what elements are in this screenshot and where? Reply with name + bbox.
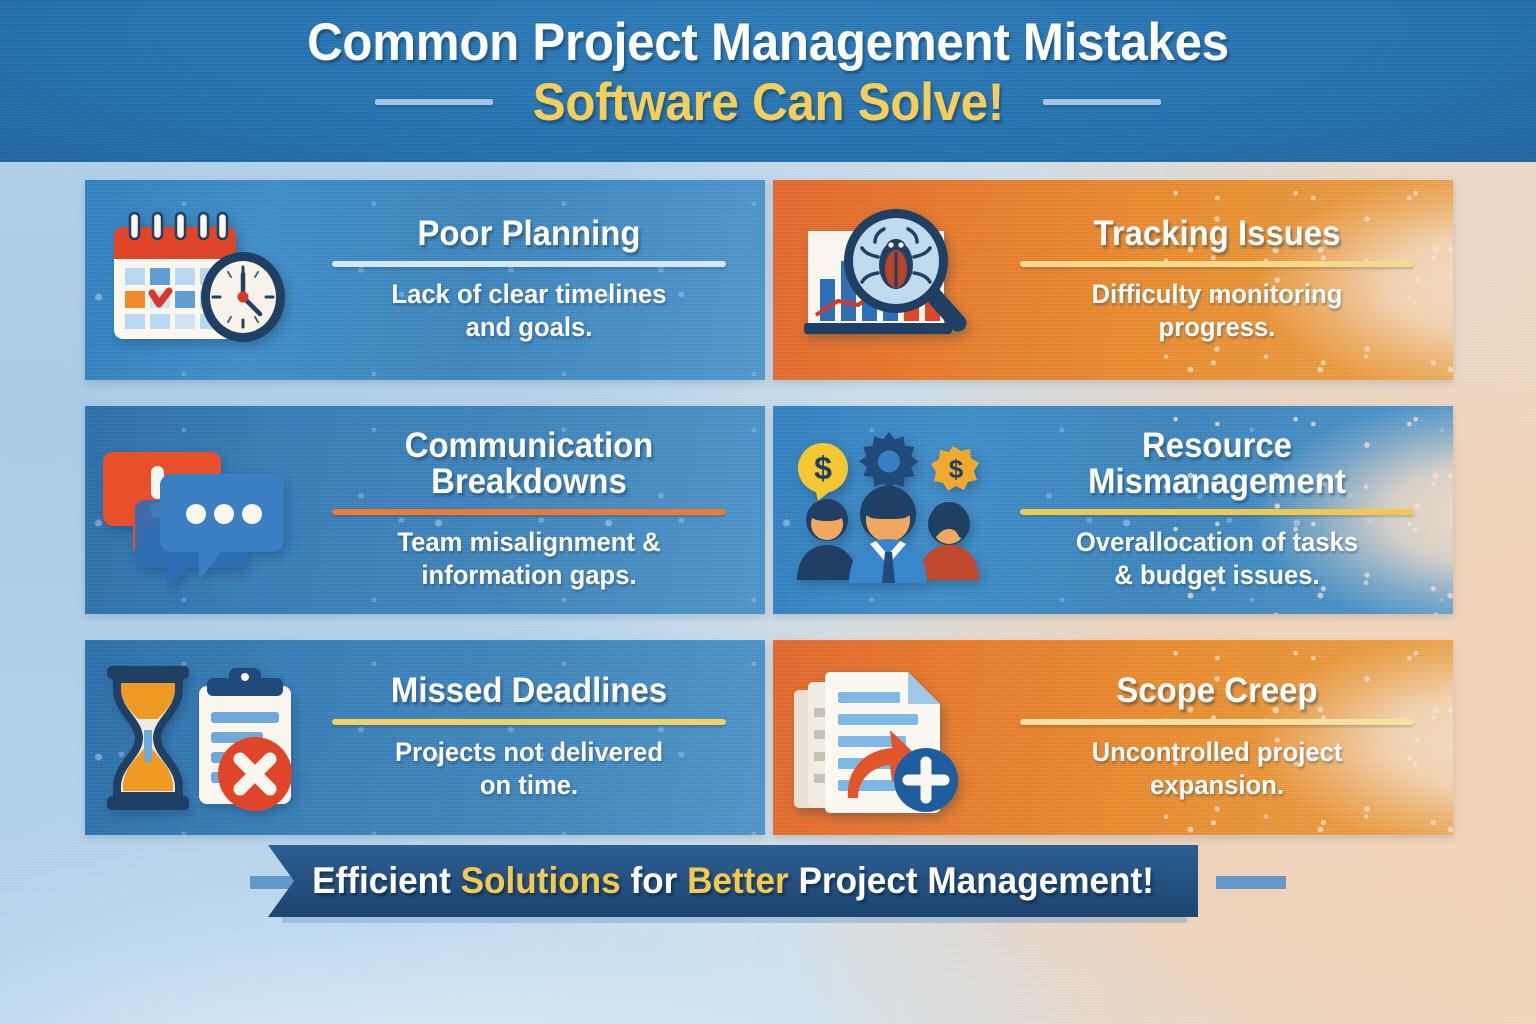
footer-tagline: Efficient Solutions for Better Project M… [312,860,1154,902]
card-rule [1020,509,1414,515]
footer-part-3: for [621,860,687,901]
card-description: Lack of clear timelines and goals. [326,278,733,344]
footer-part-5: Project Management! [789,860,1154,901]
card-description: Uncontrolled project expansion. [1014,736,1421,802]
card-title: Poor Planning [328,216,730,252]
footer-ribbon-zone: Efficient Solutions for Better Project M… [0,840,1536,926]
footer-ribbon: Efficient Solutions for Better Project M… [268,845,1198,917]
calendar-clock-icon [85,180,315,380]
subtitle-row: Software Can Solve! [0,75,1536,131]
card-title: Resource Mismanagement [1016,428,1418,501]
card-text-block: Scope Creep Uncontrolled project expansi… [1003,673,1453,801]
footer-part-2: Solutions [461,860,621,901]
chart-magnifier-bug-icon [773,180,1003,380]
card-rule [332,719,726,725]
card-title: Communication Breakdowns [328,428,730,501]
speech-bubbles-icon [85,406,315,614]
divider-dash-left [375,99,493,105]
svg-text:$: $ [814,450,832,486]
card-rule [332,509,726,515]
ribbon-tail-right [1216,876,1286,889]
svg-text:$: $ [948,454,963,484]
card-text-block: Resource Mismanagement Overallocation of… [1003,428,1453,593]
header-band: Common Project Management Mistakes Softw… [0,0,1536,162]
hourglass-clipboard-x-icon [85,640,315,835]
card-resource-mismanagement[interactable]: $ $ [773,406,1453,614]
card-description: Team misalignment & information gaps. [326,526,733,592]
card-text-block: Poor Planning Lack of clear timelines an… [315,216,765,344]
card-tracking-issues[interactable]: Tracking Issues Difficulty monitoring pr… [773,180,1453,380]
divider-dash-right [1043,99,1161,105]
mistakes-grid: Poor Planning Lack of clear timelines an… [85,180,1453,830]
card-title: Missed Deadlines [328,673,730,709]
card-rule [332,261,726,267]
team-gear-money-icon: $ $ [773,406,1003,614]
card-rule [1020,719,1414,725]
card-title: Scope Creep [1016,673,1418,709]
footer-part-1: Efficient [312,860,460,901]
card-text-block: Communication Breakdowns Team misalignme… [315,428,765,593]
card-rule [1020,261,1414,267]
page-title: Common Project Management Mistakes [54,16,1482,71]
card-poor-planning[interactable]: Poor Planning Lack of clear timelines an… [85,180,765,380]
card-description: Difficulty monitoring progress. [1014,278,1421,344]
card-missed-deadlines[interactable]: Missed Deadlines Projects not delivered … [85,640,765,835]
card-communication-breakdowns[interactable]: Communication Breakdowns Team misalignme… [85,406,765,614]
card-text-block: Missed Deadlines Projects not delivered … [315,673,765,801]
footer-part-4: Better [687,860,789,901]
card-text-block: Tracking Issues Difficulty monitoring pr… [1003,216,1453,344]
document-arrow-plus-icon [773,640,1003,835]
card-title: Tracking Issues [1016,216,1418,252]
card-scope-creep[interactable]: Scope Creep Uncontrolled project expansi… [773,640,1453,835]
card-description: Overallocation of tasks & budget issues. [1014,526,1421,592]
card-description: Projects not delivered on time. [326,736,733,802]
page-subtitle: Software Can Solve! [532,75,1003,131]
